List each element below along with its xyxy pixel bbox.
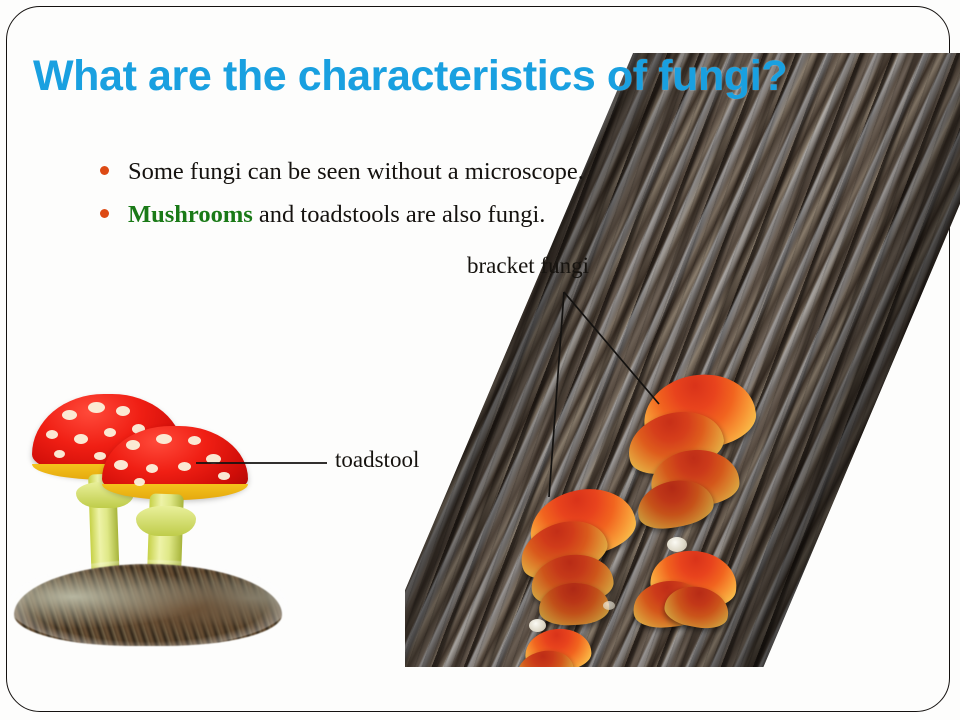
cap-spot xyxy=(62,410,77,420)
cap-spot xyxy=(94,452,106,460)
slide-canvas: bracket fungi toadstool What are the cha… xyxy=(0,0,960,720)
toadstool-ring-front xyxy=(136,506,196,536)
cap-spot xyxy=(178,462,191,471)
bullet-2-segment: and toadstools are also fungi. xyxy=(253,201,546,228)
cap-spot xyxy=(146,464,158,473)
cap-spot xyxy=(206,454,221,464)
cap-spot xyxy=(126,440,140,450)
bark-blob-3 xyxy=(603,601,615,610)
cap-spot xyxy=(188,436,201,445)
cap-spot xyxy=(54,450,65,458)
cap-spot xyxy=(134,478,145,486)
bullet-list: Some fungi can be seen without a microsc… xyxy=(100,158,740,245)
bark-blob-2 xyxy=(529,619,546,632)
callout-label-bracket-fungi: bracket fungi xyxy=(467,253,589,279)
cap-spot xyxy=(104,428,116,437)
list-item: Some fungi can be seen without a microsc… xyxy=(100,158,740,186)
bullet-dot-icon xyxy=(100,166,109,175)
keyword-mushrooms: Mushrooms xyxy=(128,201,253,228)
cap-spot xyxy=(218,472,230,480)
bark-blob-1 xyxy=(667,537,687,552)
bullet-1-segment: Some fungi can be seen without a microsc… xyxy=(128,158,584,185)
cap-spot xyxy=(116,406,130,416)
slide-title: What are the characteristics of fungi? xyxy=(33,52,787,101)
callout-label-toadstool: toadstool xyxy=(335,447,419,473)
cap-spot xyxy=(88,402,105,413)
toadstool-photo xyxy=(6,378,286,646)
bullet-text-1: Some fungi can be seen without a microsc… xyxy=(128,158,584,186)
forest-floor-soil xyxy=(14,564,282,646)
cap-spot xyxy=(156,434,172,444)
list-item: Mushrooms and toadstools are also fungi. xyxy=(100,201,740,229)
cap-spot xyxy=(46,430,58,439)
bullet-dot-icon xyxy=(100,209,109,218)
tree-bark-photo xyxy=(405,53,960,667)
bullet-text-2: Mushrooms and toadstools are also fungi. xyxy=(128,201,545,229)
cap-spot xyxy=(74,434,88,444)
cap-spot xyxy=(114,460,128,470)
